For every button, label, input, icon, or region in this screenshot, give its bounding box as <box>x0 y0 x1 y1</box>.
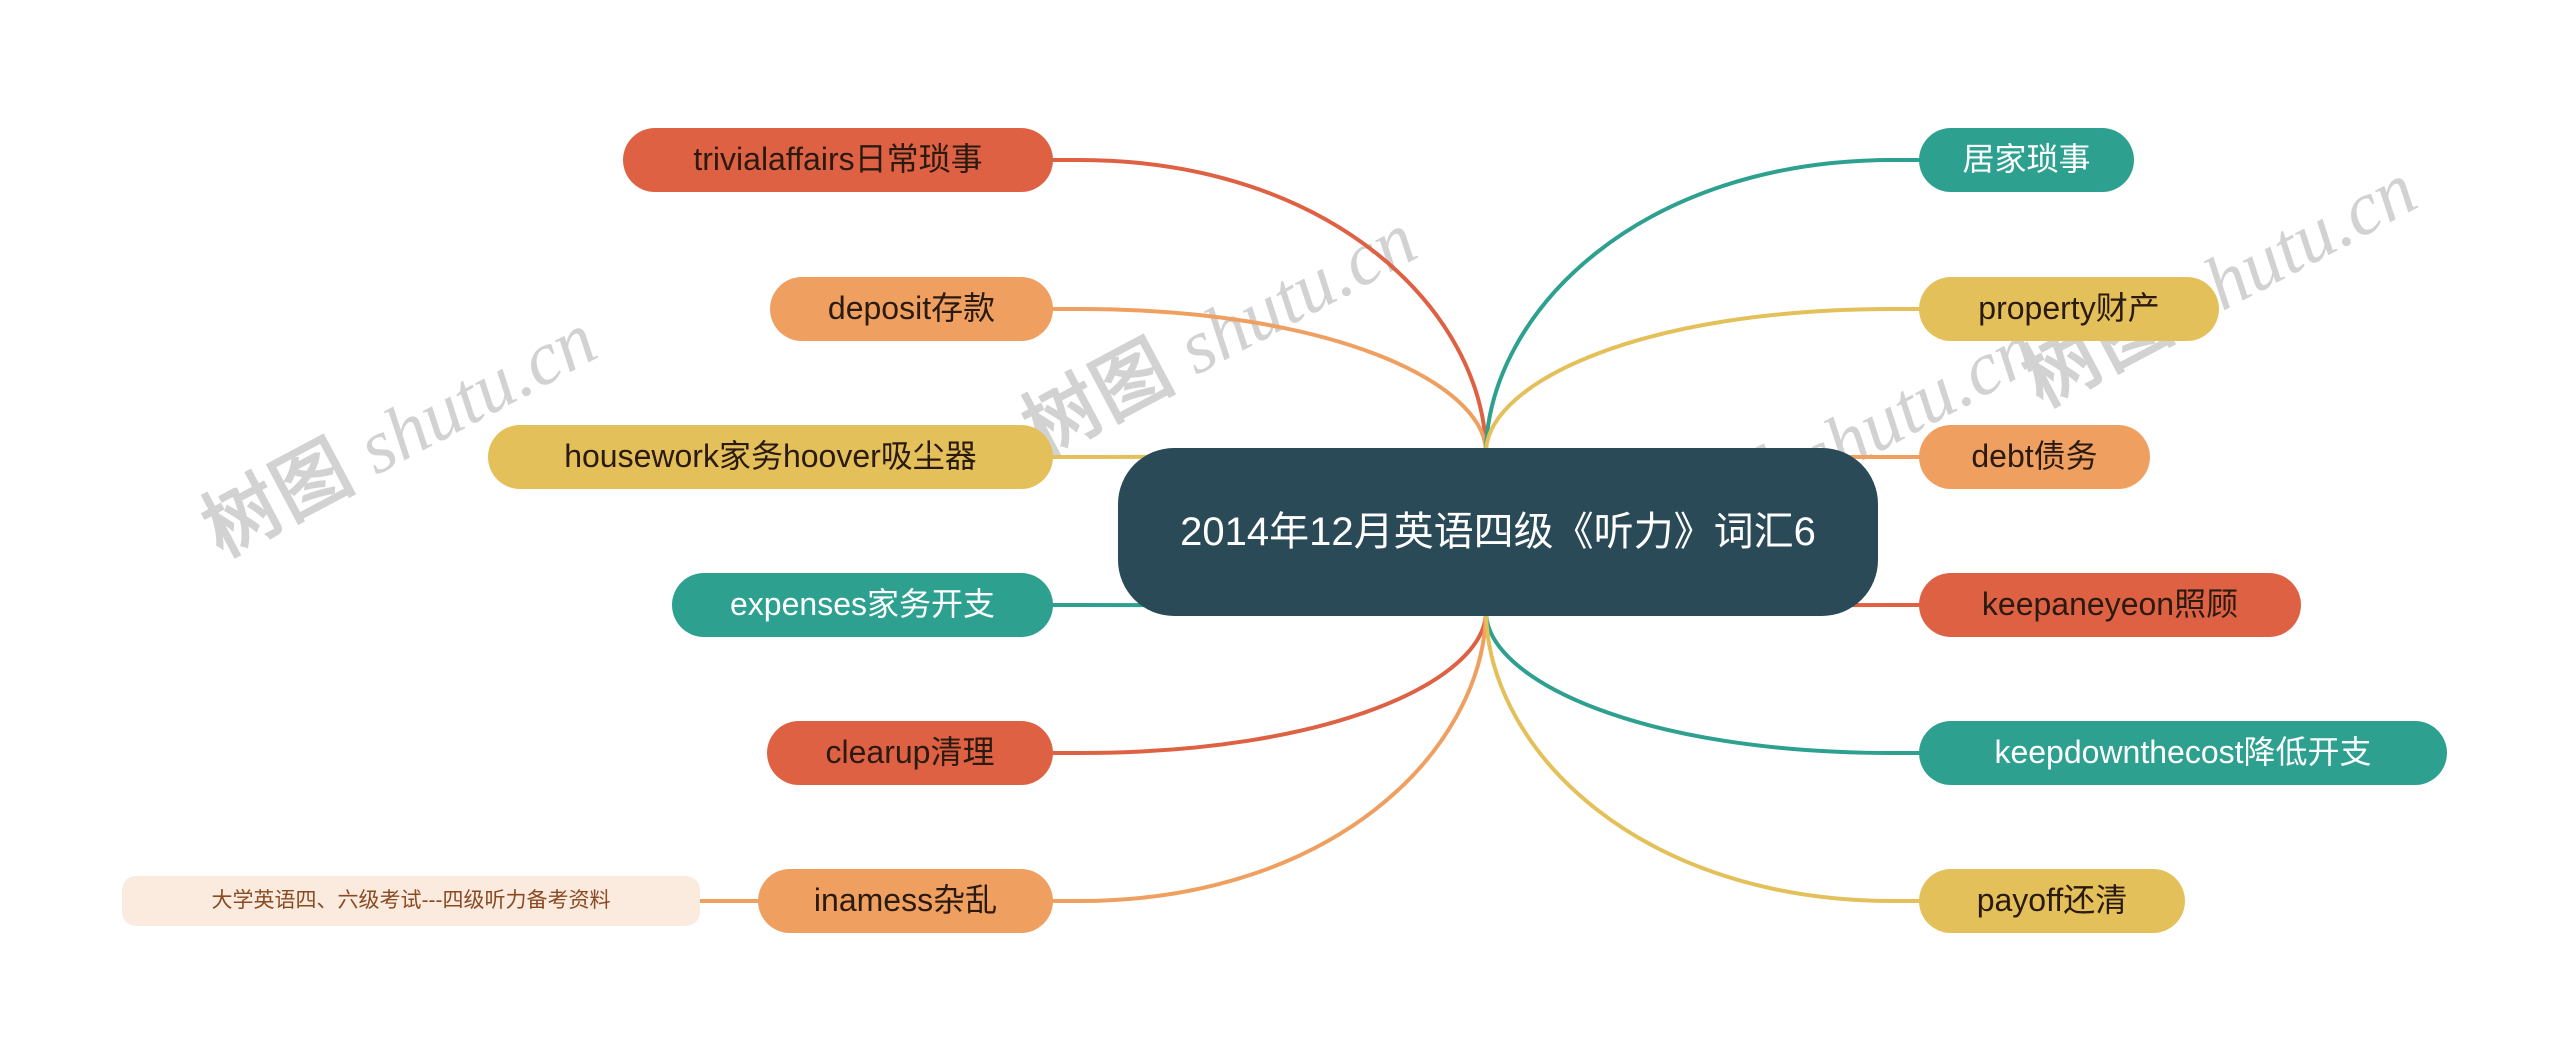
connector-path <box>1486 309 1919 450</box>
branch-left-deposit[interactable]: deposit存款 <box>770 277 1053 341</box>
branch-right-payoff[interactable]: payoff还清 <box>1919 869 2185 933</box>
mindmap-canvas: 树图 shutu.cn 树图 shutu.cn 树图 shutu.cn 树图 s… <box>0 0 2560 1056</box>
branch-left-clearup[interactable]: clearup清理 <box>767 721 1053 785</box>
branch-right-debt[interactable]: debt债务 <box>1919 425 2150 489</box>
branch-left-expenses-label: expenses家务开支 <box>730 586 995 624</box>
branch-right-keepdownthecost-label: keepdownthecost降低开支 <box>1994 734 2371 772</box>
branch-left-deposit-label: deposit存款 <box>828 290 995 328</box>
branch-left-expenses[interactable]: expenses家务开支 <box>672 573 1053 637</box>
branch-right-keepdownthecost[interactable]: keepdownthecost降低开支 <box>1919 721 2447 785</box>
connector-path <box>1486 614 1919 753</box>
subnode-node-label: 大学英语四、六级考试---四级听力备考资料 <box>212 889 611 914</box>
root-node[interactable]: 2014年12月英语四级《听力》词汇6 <box>1118 448 1878 616</box>
branch-left-inamess-label: inamess杂乱 <box>814 882 997 920</box>
branch-right-property[interactable]: property财产 <box>1919 277 2219 341</box>
branch-right-node[interactable]: 居家琐事 <box>1919 128 2134 192</box>
watermark-text: 树图 shutu.cn <box>1000 178 1432 477</box>
branch-left-inamess[interactable]: inamess杂乱 <box>758 869 1053 933</box>
watermark-latin: shutu.cn <box>1148 196 1430 399</box>
watermark-cjk: 树图 <box>188 422 368 574</box>
connector-path <box>1053 614 1486 901</box>
connector-path <box>1053 614 1486 753</box>
branch-left-trivialaffairs[interactable]: trivialaffairs日常琐事 <box>623 128 1053 192</box>
branch-left-housework-hoover-label: housework家务hoover吸尘器 <box>564 438 977 476</box>
connector-path <box>1486 160 1919 450</box>
branch-left-trivialaffairs-label: trivialaffairs日常琐事 <box>693 141 982 179</box>
branch-right-debt-label: debt债务 <box>1971 438 2097 476</box>
root-node-label: 2014年12月英语四级《听力》词汇6 <box>1180 506 1816 559</box>
branch-left-clearup-label: clearup清理 <box>826 734 995 772</box>
branch-right-payoff-label: payoff还清 <box>1977 882 2128 920</box>
subnode-node[interactable]: 大学英语四、六级考试---四级听力备考资料 <box>122 876 700 926</box>
connector-path <box>1053 160 1486 450</box>
branch-right-property-label: property财产 <box>1978 290 2159 328</box>
connector-path <box>1486 614 1919 901</box>
branch-left-housework-hoover[interactable]: housework家务hoover吸尘器 <box>488 425 1053 489</box>
branch-right-keepaneyeon[interactable]: keepaneyeon照顾 <box>1919 573 2301 637</box>
connector-path <box>1053 309 1486 450</box>
branch-right-node-label: 居家琐事 <box>1962 141 2090 179</box>
branch-right-keepaneyeon-label: keepaneyeon照顾 <box>1982 586 2238 624</box>
